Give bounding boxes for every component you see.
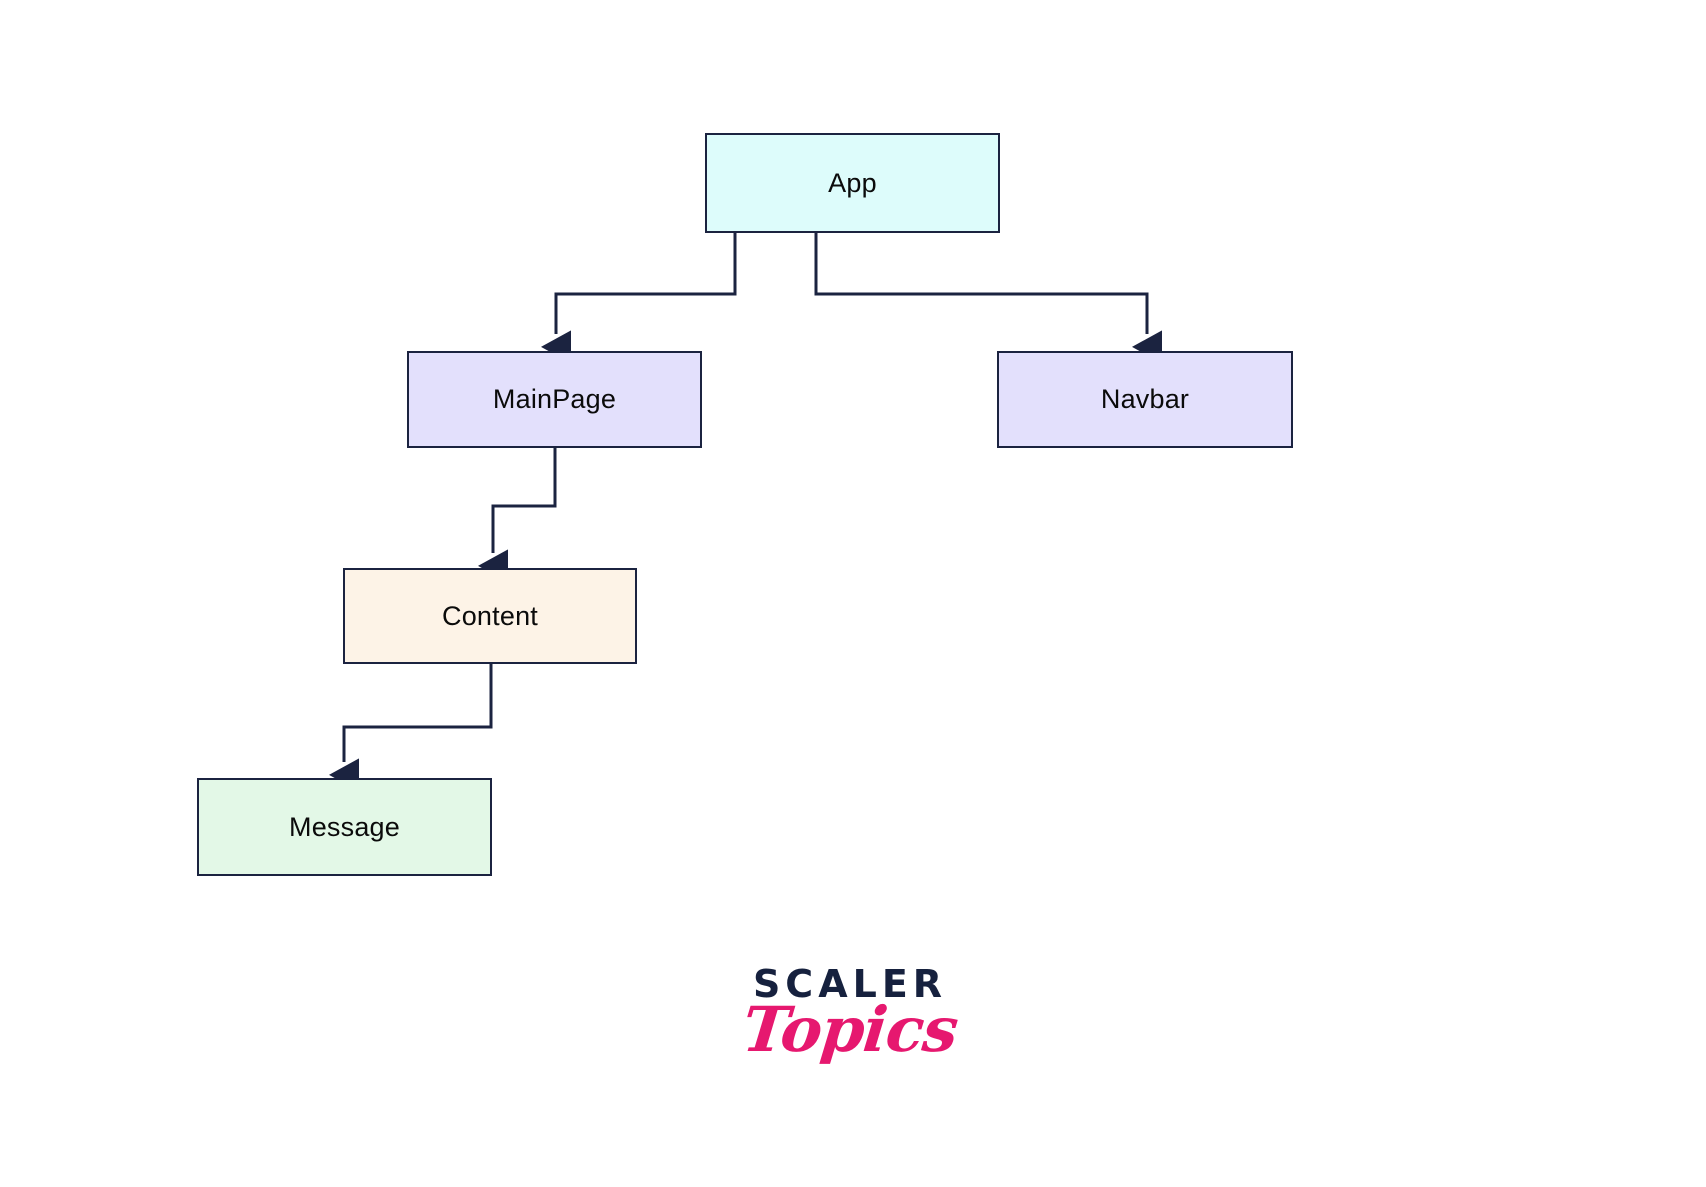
edge-app-to-mainpage: [556, 233, 735, 334]
node-content[interactable]: Content: [343, 568, 637, 664]
node-message[interactable]: Message: [197, 778, 492, 876]
edge-content-to-message: [344, 664, 491, 762]
logo-topics-text: Topics: [740, 999, 960, 1061]
edge-app-to-navbar: [816, 233, 1147, 334]
edge-mainpage-to-content: [493, 448, 555, 553]
node-navbar-label: Navbar: [1101, 386, 1189, 413]
node-app[interactable]: App: [705, 133, 1000, 233]
scaler-topics-logo: SCALER Topics: [700, 965, 1000, 1061]
node-message-label: Message: [289, 814, 400, 841]
node-navbar[interactable]: Navbar: [997, 351, 1293, 448]
node-mainpage-label: MainPage: [493, 386, 616, 413]
node-app-label: App: [828, 170, 877, 197]
node-mainpage[interactable]: MainPage: [407, 351, 702, 448]
node-content-label: Content: [442, 603, 538, 630]
diagram-canvas: App MainPage Navbar Content Message SCAL…: [0, 0, 1706, 1187]
